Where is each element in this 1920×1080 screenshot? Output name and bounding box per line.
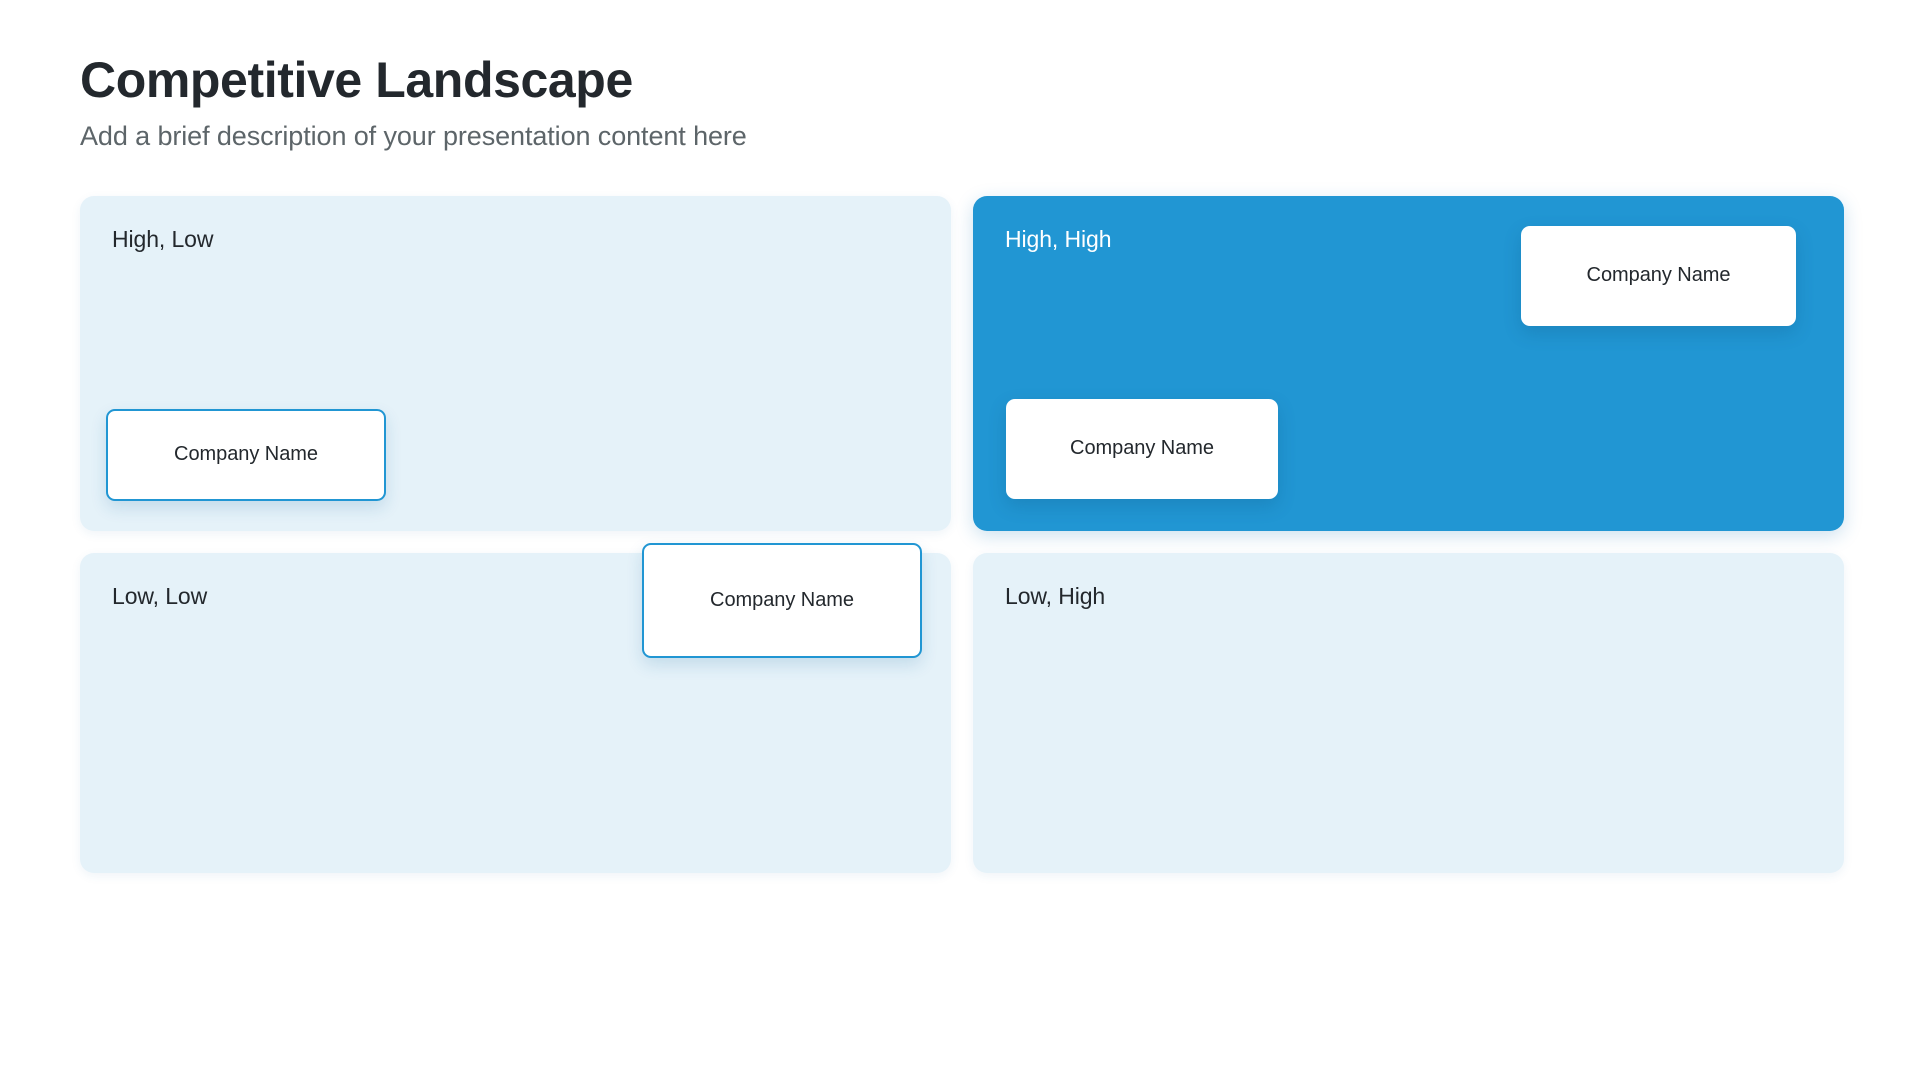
quadrant-high-high[interactable]: High, High Company Name Company Name [973, 196, 1844, 531]
company-chip-label: Company Name [1587, 264, 1731, 287]
company-chip-label: Company Name [1070, 437, 1214, 460]
competitive-matrix: High, Low Company Name High, High Compan… [80, 196, 1844, 873]
quadrant-low-low[interactable]: Low, Low Company Name [80, 553, 951, 873]
company-chip-label: Company Name [174, 443, 318, 466]
company-chip[interactable]: Company Name [106, 409, 386, 501]
slide-canvas: Competitive Landscape Add a brief descri… [0, 0, 1920, 1080]
quadrant-high-low[interactable]: High, Low Company Name [80, 196, 951, 531]
quadrant-label: Low, High [1005, 583, 1812, 611]
page-title: Competitive Landscape [80, 52, 1840, 108]
quadrant-low-high[interactable]: Low, High [973, 553, 1844, 873]
company-chip[interactable]: Company Name [1521, 226, 1796, 326]
slide-header: Competitive Landscape Add a brief descri… [80, 52, 1840, 154]
quadrant-label: High, Low [112, 226, 919, 254]
page-subtitle: Add a brief description of your presenta… [80, 120, 1840, 154]
company-chip-label: Company Name [710, 589, 854, 612]
company-chip[interactable]: Company Name [642, 543, 922, 658]
company-chip[interactable]: Company Name [1006, 399, 1278, 499]
